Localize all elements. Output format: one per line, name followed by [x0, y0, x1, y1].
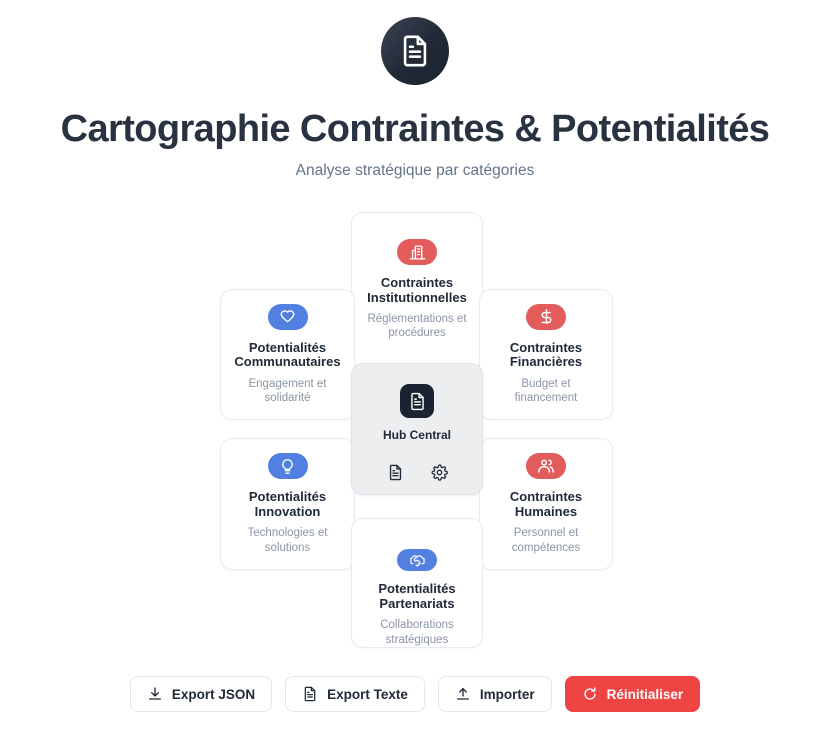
download-icon [147, 686, 163, 702]
card-contraintes-humaines[interactable]: Contraintes Humaines Personnel et compét… [479, 438, 613, 570]
app-logo-badge [381, 17, 449, 85]
button-label: Export Texte [327, 687, 408, 702]
card-potentialites-communautaires[interactable]: Potentialités Communautaires Engagement … [220, 289, 355, 420]
card-title: Contraintes Financières [492, 341, 600, 370]
card-title: Potentialités Communautaires [233, 341, 342, 370]
gear-icon[interactable] [429, 462, 449, 482]
file-text-icon [398, 34, 432, 68]
card-description: Engagement et solidarité [233, 377, 342, 406]
export-json-button[interactable]: Export JSON [130, 676, 272, 712]
card-title: Contraintes Humaines [492, 490, 600, 519]
button-label: Export JSON [172, 687, 255, 702]
page-title: Cartographie Contraintes & Potentialités [0, 108, 830, 151]
upload-icon [455, 686, 471, 702]
card-description: Réglementations et procédures [364, 312, 470, 341]
users-icon [526, 453, 566, 479]
hub-central[interactable]: Hub Central [351, 363, 483, 495]
card-contraintes-institutionnelles[interactable]: Contraintes Institutionnelles Réglementa… [351, 212, 483, 374]
document-icon [302, 686, 318, 702]
card-description: Budget et financement [492, 377, 600, 406]
button-label: Réinitialiser [607, 687, 684, 702]
heart-icon [268, 304, 308, 330]
page-subtitle: Analyse stratégique par catégories [0, 162, 830, 180]
page-header: Cartographie Contraintes & Potentialités… [0, 0, 830, 180]
importer-button[interactable]: Importer [438, 676, 552, 712]
card-contraintes-financieres[interactable]: Contraintes Financières Budget et financ… [479, 289, 613, 420]
card-description: Collaborations stratégiques [364, 618, 470, 647]
app-root: Cartographie Contraintes & Potentialités… [0, 0, 830, 743]
reinitialiser-button[interactable]: Réinitialiser [565, 676, 701, 712]
button-label: Importer [480, 687, 535, 702]
dollar-icon [526, 304, 566, 330]
hub-file-text-icon [400, 384, 434, 418]
building-icon [397, 239, 437, 265]
card-title: Contraintes Institutionnelles [364, 276, 470, 305]
handshake-icon [397, 549, 437, 571]
card-description: Personnel et compétences [492, 526, 600, 555]
hub-actions [385, 462, 449, 482]
refresh-icon [582, 686, 598, 702]
card-potentialites-innovation[interactable]: Potentialités Innovation Technologies et… [220, 438, 355, 570]
hub-label: Hub Central [383, 428, 451, 442]
category-map: Contraintes Institutionnelles Réglementa… [0, 200, 830, 660]
card-title: Potentialités Innovation [233, 490, 342, 519]
card-title: Potentialités Partenariats [364, 582, 470, 611]
export-texte-button[interactable]: Export Texte [285, 676, 425, 712]
card-description: Technologies et solutions [233, 526, 342, 555]
card-potentialites-partenariats[interactable]: Potentialités Partenariats Collaboration… [351, 518, 483, 648]
action-toolbar: Export JSON Export Texte [0, 676, 830, 712]
lightbulb-icon [268, 453, 308, 479]
document-icon[interactable] [385, 462, 405, 482]
